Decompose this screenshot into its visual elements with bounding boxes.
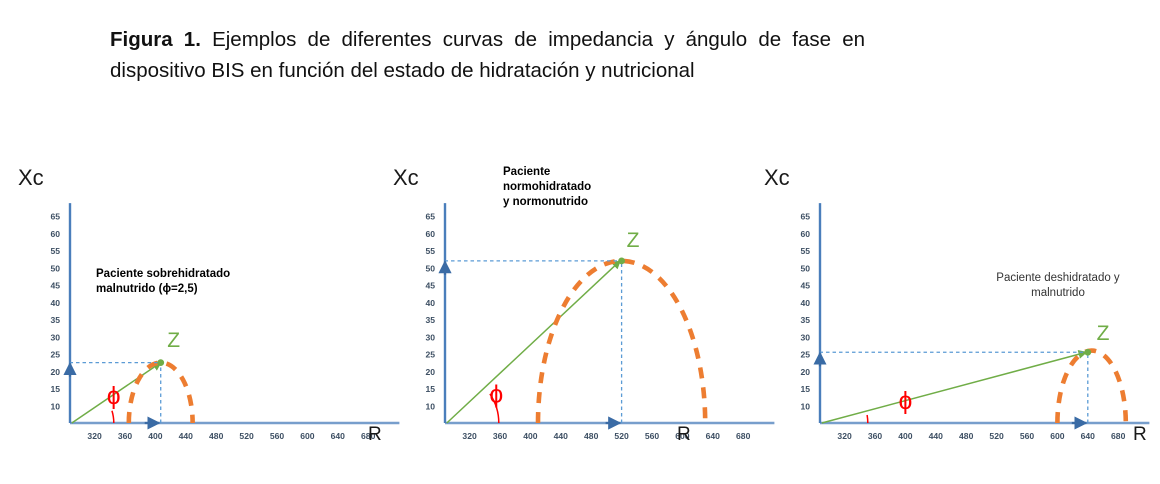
y-axis-name: Xc	[18, 165, 44, 190]
chart-title: Paciente deshidratado ymalnutrido	[958, 271, 1158, 301]
y-tick-label: 25	[425, 350, 435, 360]
y-tick-label: 60	[425, 229, 435, 239]
chart-title-line: Paciente deshidratado y	[958, 271, 1158, 286]
x-tick-label: 640	[706, 431, 721, 441]
chart-2: 6560555045403530252015103203604004404805…	[385, 155, 785, 465]
x-tick-label: 480	[209, 431, 224, 441]
x-tick-label: 400	[898, 431, 913, 441]
y-tick-label: 15	[800, 384, 810, 394]
figure-caption-lead: Figura 1.	[110, 28, 201, 51]
y-tick-label: 30	[50, 332, 60, 342]
impedance-point	[157, 359, 164, 366]
x-tick-label: 400	[523, 431, 538, 441]
y-tick-label: 10	[800, 401, 810, 411]
chart-title-line: Paciente	[503, 165, 703, 180]
figure-caption-text: Ejemplos de diferentes curvas de impedan…	[110, 28, 865, 82]
chart-panel-2: 6560555045403530252015103203604004404805…	[385, 155, 785, 465]
impedance-point	[1084, 349, 1091, 356]
y-tick-label: 45	[425, 281, 435, 291]
phase-angle-arc	[867, 415, 868, 423]
y-tick-label: 50	[800, 263, 810, 273]
figure-caption: Figura 1. Ejemplos de diferentes curvas …	[110, 24, 865, 86]
x-tick-label: 320	[462, 431, 477, 441]
x-axis-name: R	[677, 424, 691, 445]
y-tick-label: 50	[50, 263, 60, 273]
chart-title: Paciente sobrehidratadomalnutrido (ɸ=2,5…	[96, 267, 296, 297]
impedance-point	[618, 257, 625, 264]
chart-1: 6560555045403530252015103203604004404805…	[10, 155, 410, 465]
y-tick-label: 65	[425, 212, 435, 222]
x-tick-label: 520	[239, 431, 254, 441]
x-tick-label: 520	[989, 431, 1004, 441]
x-axis-name: R	[1133, 424, 1147, 445]
x-tick-label: 640	[331, 431, 346, 441]
impedance-vector	[822, 352, 1086, 423]
chart-title-line: normohidratado	[503, 180, 703, 195]
x-tick-label: 360	[868, 431, 883, 441]
chart-title-line: Paciente sobrehidratado	[96, 267, 296, 282]
y-tick-label: 35	[425, 315, 435, 325]
y-tick-label: 10	[50, 401, 60, 411]
y-tick-label: 15	[50, 384, 60, 394]
x-tick-label: 600	[300, 431, 315, 441]
phase-angle-label: ɸ	[899, 387, 913, 415]
x-tick-label: 360	[493, 431, 508, 441]
y-tick-label: 30	[425, 332, 435, 342]
x-tick-label: 480	[959, 431, 974, 441]
x-tick-label: 560	[1020, 431, 1035, 441]
x-tick-label: 440	[554, 431, 569, 441]
phase-angle-arc	[112, 411, 114, 423]
x-tick-label: 440	[179, 431, 194, 441]
chart-title: Pacientenormohidratadoy normonutrido	[503, 165, 703, 210]
chart-panel-1: 6560555045403530252015103203604004404805…	[10, 155, 410, 465]
x-tick-label: 560	[645, 431, 660, 441]
x-tick-label: 520	[614, 431, 629, 441]
impedance-vector	[447, 261, 620, 423]
x-tick-label: 640	[1081, 431, 1096, 441]
y-tick-label: 35	[50, 315, 60, 325]
y-tick-label: 55	[50, 246, 60, 256]
x-tick-label: 320	[837, 431, 852, 441]
y-axis-name: Xc	[393, 165, 419, 190]
y-tick-label: 55	[425, 246, 435, 256]
y-axis-name: Xc	[764, 165, 790, 190]
y-tick-label: 15	[425, 384, 435, 394]
y-tick-label: 55	[800, 246, 810, 256]
y-tick-label: 20	[425, 367, 435, 377]
x-tick-label: 360	[118, 431, 133, 441]
y-tick-label: 45	[50, 281, 60, 291]
y-tick-label: 25	[50, 350, 60, 360]
chart-title-line: malnutrido	[958, 286, 1158, 301]
y-tick-label: 10	[425, 401, 435, 411]
y-tick-label: 60	[50, 229, 60, 239]
chart-panel-3: 6560555045403530252015103203604004404805…	[748, 155, 1160, 465]
x-tick-label: 440	[929, 431, 944, 441]
y-tick-label: 50	[425, 263, 435, 273]
phase-angle-label: ɸ	[489, 380, 503, 408]
x-axis-name: R	[368, 424, 382, 445]
y-tick-label: 60	[800, 229, 810, 239]
x-tick-label: 560	[270, 431, 285, 441]
x-tick-label: 480	[584, 431, 599, 441]
charts-row: 6560555045403530252015103203604004404805…	[0, 155, 1160, 465]
y-tick-label: 40	[800, 298, 810, 308]
chart-3: 6560555045403530252015103203604004404805…	[748, 155, 1160, 465]
chart-title-line: y normonutrido	[503, 195, 703, 210]
x-tick-label: 320	[87, 431, 102, 441]
y-tick-label: 30	[800, 332, 810, 342]
chart-title-line: malnutrido (ɸ=2,5)	[96, 282, 296, 297]
phase-angle-label: ɸ	[107, 382, 121, 410]
impedance-arc	[1057, 351, 1125, 423]
y-tick-label: 65	[50, 212, 60, 222]
y-tick-label: 40	[50, 298, 60, 308]
y-tick-label: 35	[800, 315, 810, 325]
y-tick-label: 65	[800, 212, 810, 222]
x-tick-label: 680	[1111, 431, 1126, 441]
y-tick-label: 20	[50, 367, 60, 377]
y-tick-label: 25	[800, 350, 810, 360]
y-tick-label: 20	[800, 367, 810, 377]
y-tick-label: 45	[800, 281, 810, 291]
x-tick-label: 400	[148, 431, 163, 441]
y-tick-label: 40	[425, 298, 435, 308]
x-tick-label: 600	[1050, 431, 1065, 441]
